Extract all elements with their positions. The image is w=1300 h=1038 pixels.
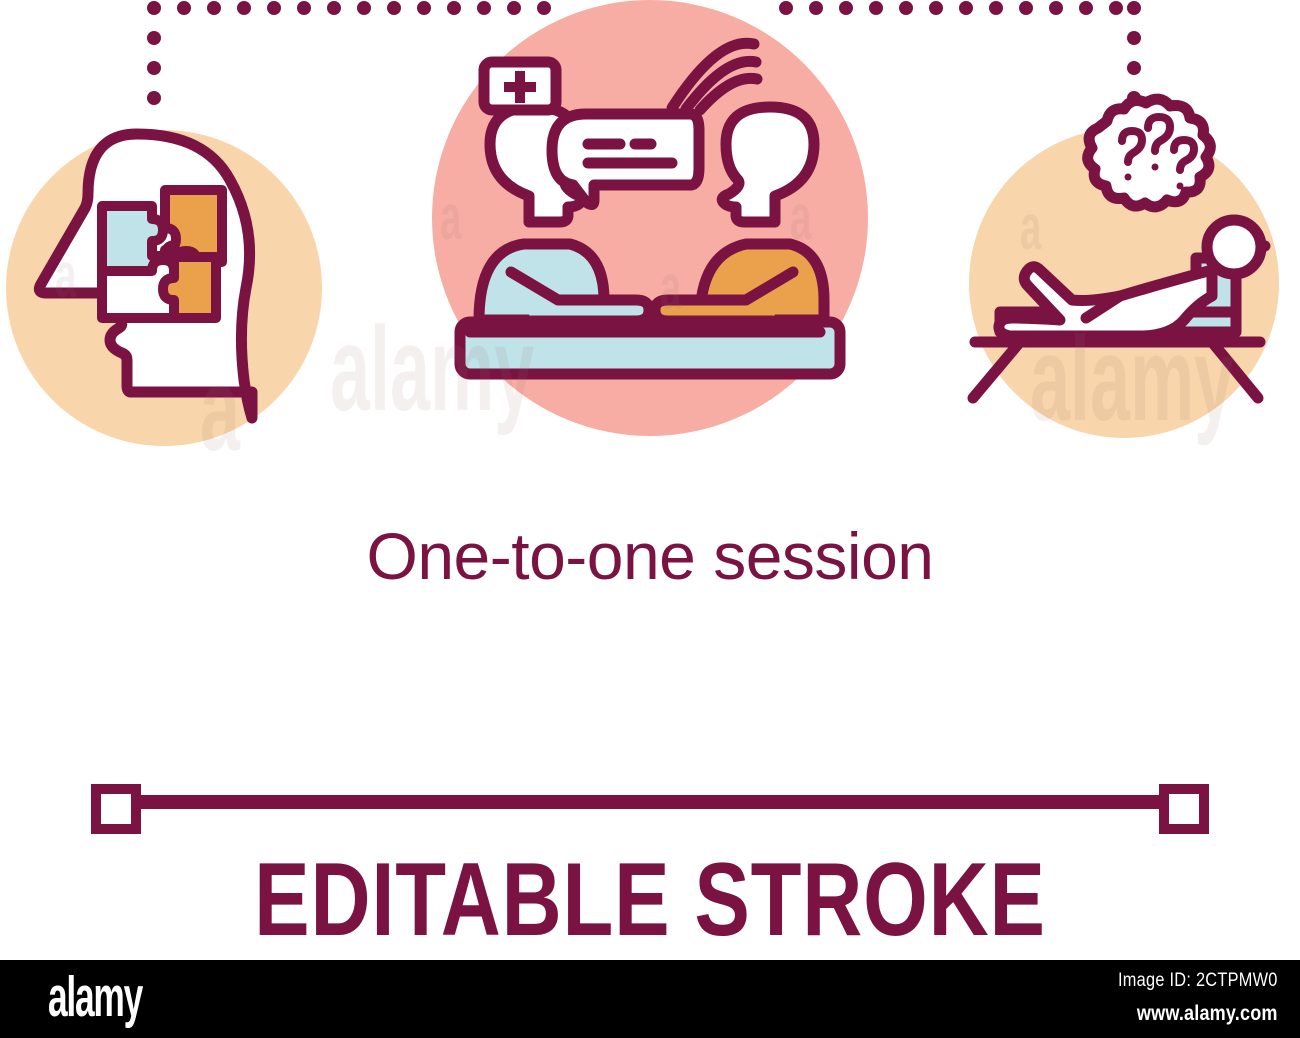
illustration-svg — [0, 0, 1300, 960]
editable-stroke-label: EDITABLE STROKE — [130, 848, 1170, 952]
alamy-footer-bar: alamy Image ID: 2CTPMW0 www.alamy.com — [0, 960, 1300, 1038]
footer-image-id: Image ID: 2CTPMW0 — [1118, 970, 1278, 992]
puzzle-piece-bottom-right — [163, 257, 216, 318]
footer-meta: Image ID: 2CTPMW0 www.alamy.com — [1092, 970, 1278, 1026]
puzzle-piece-top-right — [165, 190, 222, 262]
anchor-point-right — [1164, 789, 1204, 829]
nurse-cap-with-cross — [484, 62, 556, 110]
client-on-couch-with-question-thoughts-icon — [969, 99, 1279, 438]
concept-illustration: a a a a a alamy a alamy One-to-one sessi… — [0, 0, 1300, 960]
therapist-and-client-talking-icon — [432, 0, 868, 436]
thought-cloud-icon — [1088, 99, 1211, 207]
alamy-logo: alamy — [48, 968, 142, 1028]
footer-url[interactable]: www.alamy.com — [1118, 1002, 1278, 1026]
anchor-point-left — [96, 789, 136, 829]
concept-title: One-to-one session — [0, 518, 1300, 594]
table-icon — [460, 322, 840, 374]
stock-photo-page: a a a a a alamy a alamy One-to-one sessi… — [0, 0, 1300, 1038]
head-with-puzzle-pieces-icon — [6, 130, 322, 446]
editable-stroke-path — [96, 789, 1204, 829]
